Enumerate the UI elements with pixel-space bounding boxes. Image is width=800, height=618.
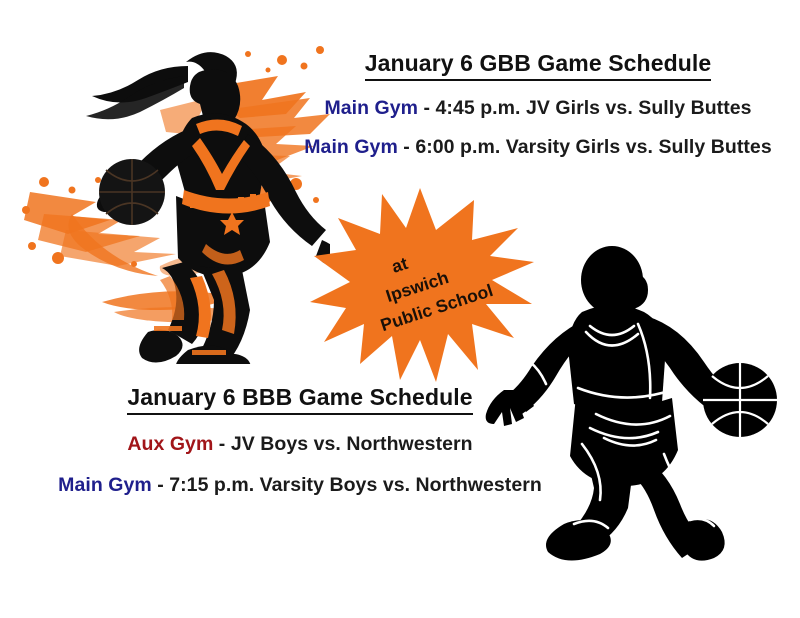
- girls-game-1-gym: Main Gym: [324, 97, 418, 119]
- venue-starburst: at Ipswich Public School: [308, 184, 536, 386]
- game-schedule-flyer: at Ipswich Public School January 6 GBB G…: [0, 0, 800, 618]
- girls-game-row-2: Main Gym - 6:00 p.m. Varsity Girls vs. S…: [280, 136, 796, 159]
- boys-game-row-2: Main Gym - 7:15 p.m. Varsity Boys vs. No…: [20, 474, 580, 497]
- girls-game-2-separator: -: [398, 136, 415, 158]
- boys-game-2-separator: -: [152, 474, 169, 496]
- girls-schedule-heading: January 6 GBB Game Schedule: [365, 50, 712, 81]
- girls-game-2-detail: 6:00 p.m. Varsity Girls vs. Sully Buttes: [415, 136, 771, 158]
- jersey-orange-trim: [154, 119, 270, 355]
- boys-schedule-block: January 6 BBB Game Schedule Aux Gym - JV…: [20, 384, 580, 497]
- boys-game-1-detail: JV Boys vs. Northwestern: [231, 433, 473, 455]
- girls-game-2-gym: Main Gym: [304, 136, 398, 158]
- girls-game-1-separator: -: [418, 97, 435, 119]
- girls-game-1-detail: 4:45 p.m. JV Girls vs. Sully Buttes: [436, 97, 752, 119]
- boys-game-1-gym: Aux Gym: [127, 433, 213, 455]
- boys-game-2-gym: Main Gym: [58, 474, 152, 496]
- boys-game-1-separator: -: [213, 433, 230, 455]
- boys-game-row-1: Aux Gym - JV Boys vs. Northwestern: [20, 433, 580, 456]
- girls-game-row-1: Main Gym - 4:45 p.m. JV Girls vs. Sully …: [280, 97, 796, 120]
- basketball-right: [703, 363, 777, 437]
- girls-schedule-block: January 6 GBB Game Schedule Main Gym - 4…: [280, 50, 796, 159]
- basketball-left: [99, 159, 165, 225]
- boys-game-2-detail: 7:15 p.m. Varsity Boys vs. Northwestern: [169, 474, 542, 496]
- boys-schedule-heading: January 6 BBB Game Schedule: [127, 384, 472, 415]
